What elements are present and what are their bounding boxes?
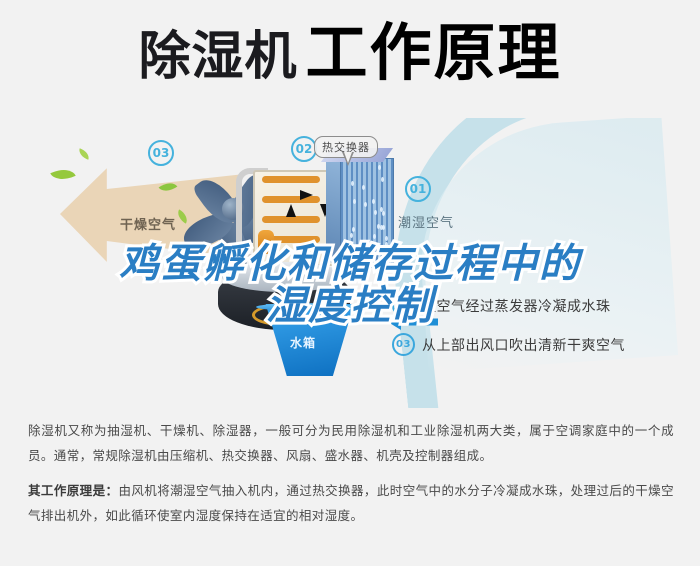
- condensation-droplet: [353, 199, 356, 204]
- paragraph-1: 除湿机又称为抽湿机、干燥机、除湿器，一般可分为民用除湿机和工业除湿机两大类，属于…: [28, 418, 674, 468]
- dehumidifier-diagram: 干燥空气: [0, 118, 700, 408]
- copper-coil: [262, 216, 320, 223]
- condensation-droplet: [372, 199, 375, 204]
- condensation-droplet: [373, 234, 376, 239]
- bullet-line: 02 湿空气经过蒸发器冷凝成水珠: [392, 294, 692, 317]
- flow-arrow-up-icon: [286, 204, 296, 217]
- badge-01: 01: [405, 176, 431, 202]
- leaf-icon: [77, 148, 91, 160]
- paragraph-2: 其工作原理是：由风机将潮湿空气抽入机内，通过热交换器，此时空气中的水分子冷凝成水…: [28, 478, 674, 528]
- condensation-droplet: [381, 177, 384, 182]
- flow-arrow-right-icon: [300, 190, 313, 200]
- bullet-line: 03 从上部出风口吹出清新干爽空气: [392, 333, 692, 356]
- machine-base-top: [222, 262, 346, 292]
- bullet-number: 03: [392, 333, 415, 356]
- condensation-droplet: [385, 236, 388, 241]
- condensation-droplet: [382, 211, 385, 216]
- leaf-icon: [50, 164, 75, 185]
- compressor-unit: [258, 230, 274, 254]
- process-bullets: 02 湿空气经过蒸发器冷凝成水珠 03 从上部出风口吹出清新干爽空气: [392, 294, 692, 372]
- paragraph-2-lead: 其工作原理是：: [28, 483, 118, 498]
- water-tank-label: 水箱: [290, 334, 316, 351]
- condensation-droplet: [351, 181, 354, 186]
- condensation-droplet: [364, 202, 367, 207]
- bullet-number: 02: [392, 294, 415, 317]
- evaporator-fins: [340, 158, 394, 268]
- copper-coil: [262, 176, 320, 183]
- page-header: 除湿机工作原理: [0, 0, 700, 120]
- title-part-2: 工作原理: [306, 16, 562, 89]
- condensation-droplet: [348, 241, 351, 246]
- condensation-droplet: [354, 258, 357, 263]
- condensation-droplet: [350, 233, 353, 238]
- condensation-droplet: [345, 251, 348, 256]
- bullet-text: 湿空气经过蒸发器冷凝成水珠: [422, 296, 611, 316]
- dry-air-label: 干燥空气: [120, 214, 176, 233]
- infographic-page: 除湿机工作原理 干燥空气: [0, 0, 700, 566]
- article-body: 除湿机又称为抽湿机、干燥机、除湿器，一般可分为民用除湿机和工业除湿机两大类，属于…: [28, 418, 674, 538]
- condensation-droplet: [363, 249, 366, 254]
- title-part-1: 除湿机: [138, 27, 297, 87]
- condensation-droplet: [352, 227, 355, 232]
- humid-air-label: 潮湿空气: [398, 212, 454, 231]
- condensation-droplet: [378, 165, 381, 170]
- condensation-droplet: [378, 251, 381, 256]
- page-title: 除湿机工作原理: [0, 22, 700, 84]
- condensation-droplet: [385, 242, 388, 247]
- condensation-droplet: [362, 185, 365, 190]
- condensation-droplet: [361, 254, 364, 259]
- condensation-droplet: [382, 225, 385, 230]
- bullet-text: 从上部出风口吹出清新干爽空气: [422, 335, 625, 355]
- condensation-droplet: [374, 210, 377, 215]
- callout-pointer-icon: [342, 152, 354, 166]
- paragraph-2-rest: 由风机将潮湿空气抽入机内，通过热交换器，此时空气中的水分子冷凝成水珠，处理过后的…: [28, 483, 674, 523]
- condensation-droplet: [378, 256, 381, 261]
- water-tank-lip: [256, 303, 356, 311]
- badge-03: 03: [148, 140, 174, 166]
